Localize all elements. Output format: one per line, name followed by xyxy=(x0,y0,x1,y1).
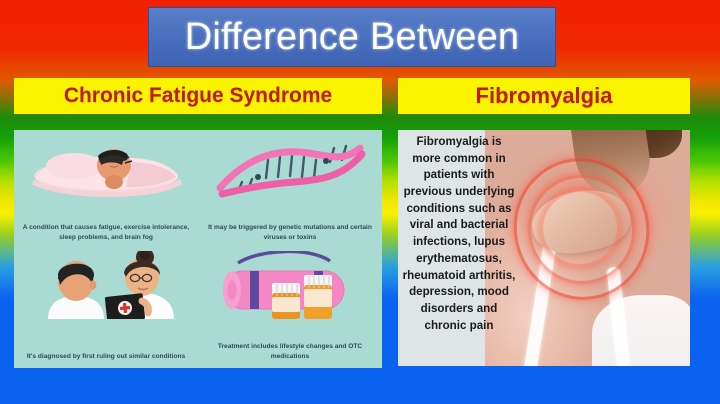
left-panel-chronic-fatigue-syndrome: A condition that causes fatigue, exercis… xyxy=(14,130,382,368)
info-cell-caption: It's diagnosed by first ruling out simil… xyxy=(20,352,192,362)
right-panel-fibromyalgia: Fibromyalgia is more common in patients … xyxy=(398,130,690,366)
info-cell-caption: Treatment includes lifestyle changes and… xyxy=(204,342,376,362)
info-cell-caption: It may be triggered by genetic mutations… xyxy=(204,223,376,243)
column-header-right: Fibromyalgia xyxy=(398,78,690,114)
column-header-left: Chronic Fatigue Syndrome xyxy=(14,78,382,114)
fibromyalgia-description: Fibromyalgia is more common in patients … xyxy=(398,134,520,334)
page-title: Difference Between xyxy=(185,16,520,59)
page-title-banner: Difference Between xyxy=(148,7,556,67)
column-header-left-label: Chronic Fatigue Syndrome xyxy=(64,84,332,108)
info-cell: Treatment includes lifestyle changes and… xyxy=(198,249,382,368)
doctor-and-patient-icon xyxy=(14,251,198,319)
column-header-right-label: Fibromyalgia xyxy=(476,83,613,109)
person-sleeping-in-bed-icon xyxy=(14,132,198,200)
info-cell-caption: A condition that causes fatigue, exercis… xyxy=(20,223,192,243)
dna-double-helix-icon xyxy=(198,132,382,200)
yoga-mat-and-pill-bottles-icon xyxy=(198,251,382,319)
info-cell: It may be triggered by genetic mutations… xyxy=(198,130,382,249)
photo-tank-top xyxy=(592,295,690,366)
info-cell: It's diagnosed by first ruling out simil… xyxy=(14,249,198,368)
info-cell: A condition that causes fatigue, exercis… xyxy=(14,130,198,249)
